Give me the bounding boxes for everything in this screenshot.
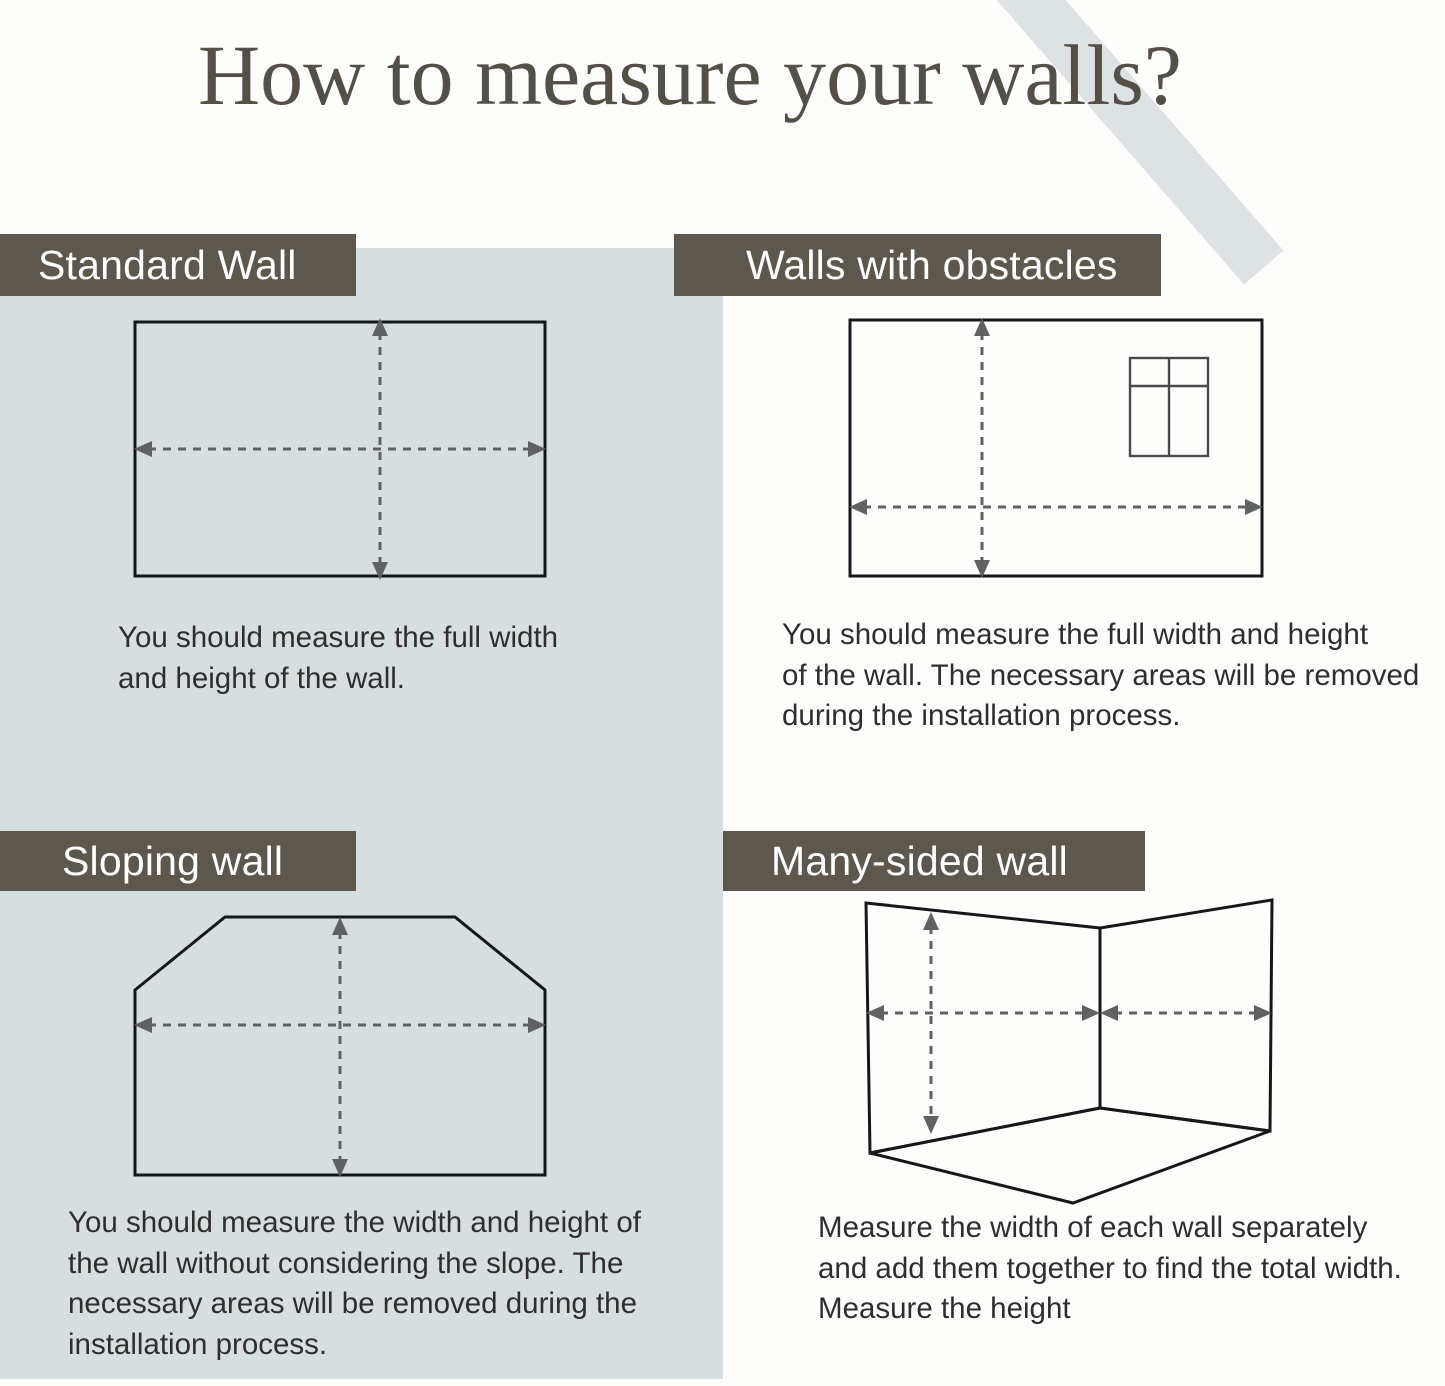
diagram-sloping-wall	[110, 895, 580, 1195]
section-header-label: Walls with obstacles	[746, 242, 1118, 289]
page-title: How to measure your walls?	[0, 30, 1380, 120]
section-header-walls-with-obstacles: Walls with obstacles	[674, 234, 1161, 296]
diagram-standard-wall	[110, 300, 580, 600]
diagram-many-sided-wall	[840, 888, 1300, 1218]
section-header-label: Standard Wall	[38, 242, 297, 289]
body-text-walls-with-obstacles: You should measure the full width and he…	[782, 615, 1422, 737]
body-text-standard-wall: You should measure the full width and he…	[118, 618, 638, 699]
section-header-many-sided-wall: Many-sided wall	[723, 831, 1145, 891]
diagram-walls-with-obstacles	[830, 300, 1290, 600]
body-text-sloping-wall: You should measure the width and height …	[68, 1203, 668, 1366]
body-text-many-sided-wall: Measure the width of each wall separatel…	[818, 1208, 1438, 1330]
section-header-label: Many-sided wall	[771, 838, 1068, 885]
infographic-page: How to measure your walls? Standard Wall…	[0, 0, 1445, 1386]
section-header-standard-wall: Standard Wall	[0, 234, 356, 296]
section-header-label: Sloping wall	[62, 838, 283, 885]
section-header-sloping-wall: Sloping wall	[0, 831, 356, 891]
window-obstacle	[1130, 358, 1208, 456]
